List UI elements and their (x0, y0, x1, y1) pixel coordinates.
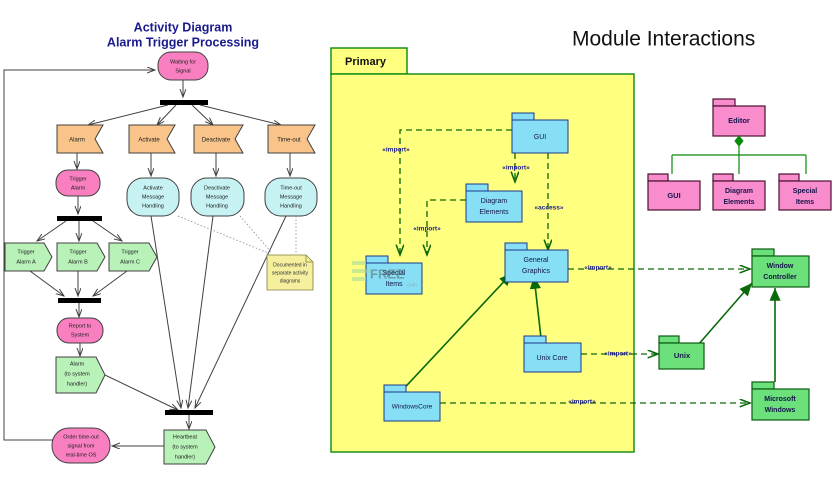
svg-text:Message: Message (206, 194, 228, 200)
join-bar-heartbeat (165, 410, 213, 415)
svg-text:Time-out: Time-out (277, 138, 301, 144)
diagram-canvas: Activity Diagram Alarm Trigger Processin… (0, 0, 836, 484)
svg-text:Alarm A: Alarm A (16, 259, 36, 265)
svg-text:Report to: Report to (69, 323, 92, 329)
node-trigger-alarm-c[interactable]: Trigger Alarm C (109, 243, 157, 271)
dep-label-import-3: «import» (502, 165, 530, 172)
svg-text:Elements: Elements (723, 199, 754, 206)
svg-text:Documented in: Documented in (273, 262, 307, 268)
aggregation-diamond (735, 136, 743, 146)
svg-text:Heartbeat: Heartbeat (173, 434, 198, 440)
node-trigger-alarm[interactable]: Trigger Alarm (56, 170, 100, 196)
svg-text:Unix Core: Unix Core (536, 355, 567, 362)
edge-a-to-join (30, 271, 64, 296)
svg-text:Windows: Windows (765, 407, 796, 414)
svg-text:GUI: GUI (667, 191, 680, 200)
svg-text:Trigger: Trigger (121, 249, 138, 255)
svg-text:Alarm: Alarm (71, 185, 86, 191)
module-interactions-title: Module Interactions (572, 28, 755, 51)
edge-fork-activate (157, 105, 176, 125)
svg-text:Signal: Signal (175, 68, 190, 74)
svg-text:(to system: (to system (64, 371, 90, 377)
dep-label-import-6: «import» (568, 399, 596, 406)
svg-text:Message: Message (142, 194, 164, 200)
edge-fork2-a (37, 221, 66, 241)
package-editor-diagram-elements[interactable]: Diagram Elements (713, 174, 765, 210)
svg-text:handler): handler) (175, 454, 195, 460)
svg-text:Handling: Handling (280, 203, 302, 209)
svg-text:Window: Window (767, 263, 794, 270)
node-trigger-alarm-b[interactable]: Trigger Alarm B (57, 243, 105, 271)
svg-text:Activate: Activate (138, 138, 160, 144)
package-primary-label: Primary (345, 56, 387, 68)
svg-text:Items: Items (385, 281, 403, 288)
package-editor-gui[interactable]: GUI (648, 174, 700, 210)
node-signal-deactivate[interactable]: Deactivate (194, 125, 243, 153)
node-signal-alarm[interactable]: Alarm (57, 125, 103, 153)
svg-text:Waiting for: Waiting for (170, 59, 196, 65)
activity-diagram-group: Activity Diagram Alarm Trigger Processin… (4, 20, 317, 464)
edge-alarm-signal-to-join (105, 375, 178, 410)
svg-text:Controller: Controller (763, 274, 797, 281)
svg-text:Time-out: Time-out (280, 185, 302, 191)
svg-text:WindowsCore: WindowsCore (392, 404, 433, 411)
svg-text:Handling: Handling (206, 203, 228, 209)
svg-text:signal from: signal from (68, 443, 95, 449)
node-signal-activate[interactable]: Activate (129, 125, 175, 153)
svg-text:System: System (71, 332, 90, 338)
dep-label-import-5: «import» (604, 351, 632, 358)
svg-text:Alarm: Alarm (69, 138, 85, 144)
activity-diagram-title-line2: Alarm Trigger Processing (107, 35, 259, 49)
edge-deactivate-handling-to-join (188, 216, 213, 408)
svg-text:Activate: Activate (143, 185, 163, 191)
join-bar-alarm (58, 298, 101, 303)
node-heartbeat[interactable]: Heartbeat (to system handler) (164, 430, 215, 464)
edge-activate-handling-to-join (151, 216, 181, 408)
edge-fork-deactivate (192, 105, 213, 125)
svg-text:Message: Message (280, 194, 302, 200)
package-unix[interactable]: Unix (659, 336, 704, 369)
edge-fork2-c (93, 221, 122, 241)
svg-text:Order time-out: Order time-out (63, 434, 99, 440)
node-deactivate-message-handling[interactable]: Deactivate Message Handling (191, 178, 244, 216)
svg-text:Alarm B: Alarm B (68, 259, 88, 265)
package-editor-special-items[interactable]: Special Items (779, 174, 831, 210)
package-window-controller[interactable]: Window Controller (752, 249, 809, 287)
edge-c-to-join (93, 271, 127, 296)
svg-text:Microsoft: Microsoft (764, 396, 796, 403)
svg-text:Alarm C: Alarm C (120, 259, 140, 265)
node-alarm-system-handler[interactable]: Alarm (to system handler) (56, 357, 105, 393)
node-trigger-alarm-a[interactable]: Trigger Alarm A (5, 243, 52, 271)
edge-fork-alarm (88, 105, 168, 125)
note-link-1 (178, 216, 268, 253)
dep-label-import-1: «import» (382, 147, 410, 154)
package-editor[interactable]: Editor (713, 99, 765, 136)
dep-label-access: «access» (535, 205, 564, 212)
svg-text:Special: Special (793, 188, 818, 195)
svg-text:Alarm: Alarm (70, 361, 85, 367)
node-signal-timeout[interactable]: Time-out (268, 125, 315, 153)
svg-text:Handling: Handling (142, 203, 164, 209)
combined-uml-diagram: Activity Diagram Alarm Trigger Processin… (0, 0, 836, 484)
svg-text:(to system: (to system (172, 444, 198, 450)
node-activate-message-handling[interactable]: Activate Message Handling (127, 178, 179, 216)
node-order-timeout[interactable]: Order time-out signal from real-time OS (52, 428, 110, 463)
package-microsoft-windows[interactable]: Microsoft Windows (752, 382, 809, 420)
svg-text:real-time OS: real-time OS (66, 452, 97, 458)
svg-text:Graphics: Graphics (522, 268, 551, 275)
node-waiting-for-signal[interactable]: Waiting for Signal (158, 52, 208, 80)
node-report-to-system[interactable]: Report to System (57, 318, 103, 343)
svg-text:Diagram: Diagram (481, 198, 508, 205)
note-documented-separately: Documented in separate activity diagrams (267, 255, 313, 290)
activity-diagram-title-line1: Activity Diagram (134, 20, 233, 34)
svg-text:handler): handler) (67, 381, 87, 387)
svg-text:Diagram: Diagram (725, 188, 753, 195)
svg-text:Elements: Elements (479, 209, 509, 216)
module-interactions-group: Module Interactions Primary «import» «im… (331, 28, 831, 452)
watermark-word: FREE (370, 266, 405, 281)
svg-text:diagrams: diagrams (280, 278, 301, 284)
svg-text:Deactivate: Deactivate (202, 138, 231, 144)
package-gui-label: GUI (534, 134, 547, 141)
node-timeout-message-handling[interactable]: Time-out Message Handling (265, 178, 317, 216)
svg-text:General: General (524, 257, 549, 264)
dep-label-import-4: «import» (584, 265, 612, 272)
svg-text:Unix: Unix (674, 351, 691, 360)
svg-text:Items: Items (796, 199, 814, 206)
editor-tree-links (672, 146, 806, 174)
assoc-unix-to-window-controller (698, 283, 752, 345)
watermark-suffix: .com (406, 282, 417, 288)
svg-text:Trigger: Trigger (17, 249, 34, 255)
package-primary[interactable]: Primary (331, 48, 634, 452)
fork-bar-top (160, 100, 208, 105)
svg-text:Trigger: Trigger (69, 249, 86, 255)
svg-text:separate activity: separate activity (272, 270, 309, 276)
svg-text:Editor: Editor (728, 116, 750, 125)
svg-text:Deactivate: Deactivate (204, 185, 230, 191)
fork-bar-alarm (57, 216, 102, 221)
note-link-2 (240, 216, 272, 253)
edge-timeout-handling-to-join (195, 216, 286, 408)
edge-fork-timeout (200, 105, 281, 125)
dep-label-import-2: «import» (413, 226, 441, 233)
svg-text:Trigger: Trigger (69, 176, 86, 182)
